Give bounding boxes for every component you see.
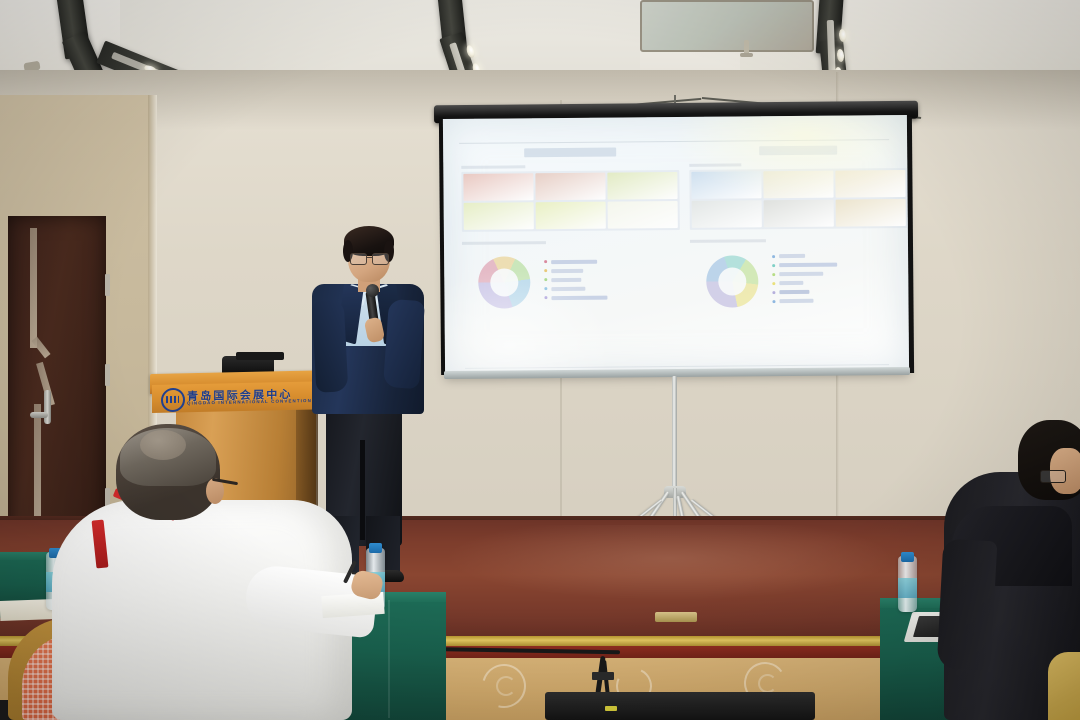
- legend-swatch-icon: [772, 255, 775, 258]
- right-chart-caption-rule: [690, 239, 766, 243]
- door-hinge: [105, 364, 110, 386]
- left-panel-heading: [524, 148, 616, 158]
- slide-left-panel: [461, 147, 680, 309]
- slide-right-panel: [689, 145, 908, 309]
- presenter-arm: [383, 299, 425, 389]
- left-panel-subrule: [461, 165, 525, 169]
- left-chart-legend: [544, 259, 607, 305]
- screen-tripod-post: [672, 376, 677, 494]
- photo-thumbnail: [608, 201, 678, 229]
- legend-swatch-icon: [544, 278, 547, 281]
- slide-title-rule: [459, 139, 889, 144]
- door-handle[interactable]: [44, 390, 51, 424]
- legend-item: [544, 277, 607, 282]
- photo-thumbnail: [835, 170, 905, 198]
- photo-thumbnail: [692, 200, 762, 228]
- photo-thumbnail: [535, 173, 605, 201]
- photo-thumbnail: [836, 199, 906, 227]
- door-glass-inset: [34, 404, 41, 534]
- legend-label: [551, 259, 597, 263]
- legend-item: [772, 254, 837, 259]
- legend-label: [779, 290, 809, 294]
- screen-surface: [443, 115, 909, 377]
- tablecloth-fold: [388, 600, 390, 718]
- door-hinge: [105, 274, 110, 296]
- right-photo-grid: [689, 168, 908, 230]
- legend-item: [544, 259, 607, 264]
- floor-equipment-case: [545, 692, 815, 720]
- legend-label: [551, 295, 607, 299]
- legend-item: [772, 299, 837, 304]
- legend-label: [779, 254, 805, 258]
- carpet-motif: [496, 676, 516, 696]
- room-door[interactable]: [8, 216, 106, 546]
- sprinkler-icon: [744, 40, 749, 56]
- legend-label: [779, 272, 823, 276]
- legend-label: [551, 268, 583, 272]
- left-photo-grid: [461, 170, 680, 232]
- photo-thumbnail: [463, 173, 533, 201]
- presenter-glasses-bridge: [366, 257, 372, 258]
- legend-swatch-icon: [772, 264, 775, 267]
- legend-label: [779, 299, 813, 303]
- photo-thumbnail: [691, 171, 761, 199]
- attendee-right-chair: [1048, 652, 1080, 720]
- floor-outlet-plate: [655, 612, 697, 622]
- left-chart-caption-rule: [462, 241, 546, 245]
- legend-item: [544, 295, 607, 300]
- attendee-right-arm: [937, 539, 998, 672]
- presenter-glasses: [372, 253, 389, 265]
- bottle-cap: [901, 552, 914, 562]
- photo-thumbnail: [464, 202, 534, 230]
- legend-swatch-icon: [544, 296, 547, 299]
- bottle-label: [898, 578, 917, 598]
- legend-swatch-icon: [544, 260, 547, 263]
- right-donut-chart: [706, 255, 758, 307]
- right-chart-row: [690, 253, 908, 309]
- legend-label: [779, 263, 837, 268]
- legend-swatch-icon: [772, 291, 775, 294]
- legend-swatch-icon: [772, 300, 775, 303]
- legend-swatch-icon: [544, 287, 547, 290]
- photo-thumbnail: [763, 171, 833, 199]
- legend-item: [772, 272, 837, 277]
- attendee-left-scalp: [140, 430, 186, 460]
- bottle-cap: [369, 543, 382, 553]
- right-chart-legend: [772, 254, 837, 309]
- legend-item: [544, 268, 607, 273]
- presenter-arm: [312, 299, 349, 393]
- door-glass-inset: [30, 228, 37, 348]
- legend-label: [551, 277, 581, 281]
- legend-swatch-icon: [544, 269, 547, 272]
- carpet-motif: [758, 674, 777, 693]
- left-chart-row: [462, 255, 680, 309]
- legend-item: [772, 263, 837, 268]
- photo-thumbnail: [607, 172, 677, 200]
- cable-tape: [592, 672, 614, 680]
- attendee-right-glasses: [1040, 470, 1066, 483]
- legend-item: [544, 286, 607, 291]
- legend-label: [779, 281, 803, 285]
- ceiling-access-hatch: [640, 0, 814, 52]
- legend-label: [551, 286, 585, 290]
- legend-swatch-icon: [772, 273, 775, 276]
- photo-thumbnail: [536, 202, 606, 230]
- legend-swatch-icon: [772, 282, 775, 285]
- projection-screen: [434, 103, 918, 383]
- photo-thumbnail: [764, 200, 834, 228]
- legend-item: [772, 281, 837, 286]
- conference-room-photo: 青岛国际会展中心 QINGDAO INTERNATIONAL CONVENTIO…: [0, 0, 1080, 720]
- left-donut-chart: [478, 256, 530, 308]
- presentation-slide: [443, 115, 909, 377]
- presenter-trouser-gap: [360, 440, 365, 540]
- right-panel-subrule: [689, 163, 741, 166]
- legend-item: [772, 290, 837, 295]
- podium-laptop: [236, 352, 284, 360]
- right-panel-heading: [759, 146, 837, 156]
- presenter-glasses: [350, 253, 367, 265]
